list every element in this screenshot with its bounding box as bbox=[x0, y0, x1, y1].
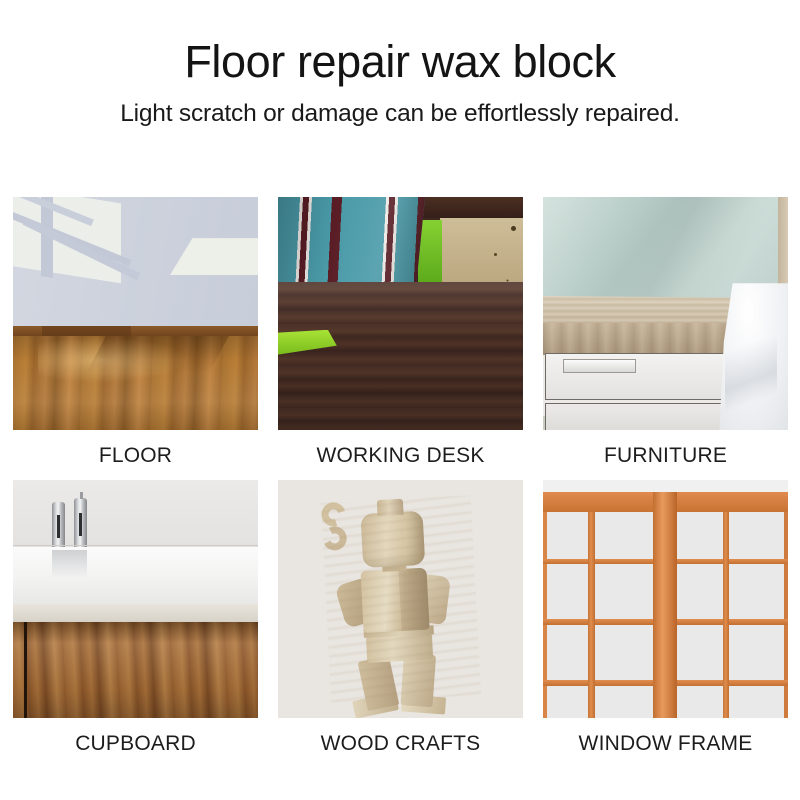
product-infographic: Floor repair wax block Light scratch or … bbox=[0, 0, 800, 800]
gallery-item-floor[interactable]: FLOOR bbox=[13, 197, 258, 468]
frame-center-post bbox=[653, 492, 676, 718]
wall-surface bbox=[13, 197, 258, 330]
dark-rail bbox=[418, 197, 523, 218]
floor-image bbox=[13, 197, 258, 430]
figure-torso-shading bbox=[398, 568, 429, 631]
figure-head bbox=[360, 511, 425, 568]
caption-wood-crafts: WOOD CRAFTS bbox=[278, 718, 523, 756]
walnut-desk-top bbox=[278, 282, 523, 430]
caption-window-frame: WINDOW FRAME bbox=[543, 718, 788, 756]
wood-crafts-image bbox=[278, 480, 523, 718]
header: Floor repair wax block Light scratch or … bbox=[0, 0, 800, 128]
gallery-item-working-desk[interactable]: WORKING DESK bbox=[278, 197, 523, 468]
countertop-edge bbox=[13, 604, 258, 623]
frame-muntin-vertical-1 bbox=[588, 512, 594, 718]
plywood-panel bbox=[440, 213, 523, 285]
caption-working-desk: WORKING DESK bbox=[278, 430, 523, 468]
grinder-reflection bbox=[52, 550, 87, 578]
frame-top-gap bbox=[543, 480, 788, 492]
drawer-handle bbox=[563, 359, 637, 373]
kitchen-wall bbox=[13, 480, 258, 547]
cupboard-image bbox=[13, 480, 258, 718]
cabinet-door-gap bbox=[24, 622, 27, 718]
frame-muntin-vertical-2 bbox=[723, 512, 729, 718]
furniture-image bbox=[543, 197, 788, 430]
walnut-cabinet-door bbox=[13, 622, 258, 718]
nightstand-top bbox=[543, 296, 749, 324]
use-case-gallery: FLOOR WORKING DESK bbox=[13, 197, 787, 756]
figure-hips bbox=[365, 633, 432, 662]
gallery-item-furniture[interactable]: FURNITURE bbox=[543, 197, 788, 468]
floor-shadow bbox=[86, 336, 228, 373]
wooden-figure bbox=[320, 495, 480, 703]
gallery-item-window-frame[interactable]: WINDOW FRAME bbox=[543, 480, 788, 756]
nightstand-drawer-lower bbox=[545, 403, 741, 430]
page-subtitle: Light scratch or damage can be effortles… bbox=[0, 100, 800, 128]
gallery-item-wood-crafts[interactable]: WOOD CRAFTS bbox=[278, 480, 523, 756]
fabric-shading bbox=[278, 197, 425, 286]
pepper-grinder-left bbox=[52, 502, 65, 550]
pepper-grinder-right bbox=[74, 498, 87, 550]
caption-furniture: FURNITURE bbox=[543, 430, 788, 468]
caption-cupboard: CUPBOARD bbox=[13, 718, 258, 756]
figure-leg-right bbox=[400, 653, 436, 707]
page-title: Floor repair wax block bbox=[0, 38, 800, 86]
countertop-surface bbox=[13, 547, 258, 607]
wall-counter-joint bbox=[13, 545, 258, 546]
caption-floor: FLOOR bbox=[13, 430, 258, 468]
figure-head-stud bbox=[376, 499, 403, 516]
figure-hand-right bbox=[319, 523, 349, 553]
gallery-item-cupboard[interactable]: CUPBOARD bbox=[13, 480, 258, 756]
bed-pillow bbox=[719, 283, 788, 430]
working-desk-image bbox=[278, 197, 523, 430]
sunlight-patch-right bbox=[170, 238, 258, 275]
nightstand-front-rail bbox=[543, 323, 749, 356]
window-frame-image bbox=[543, 480, 788, 718]
